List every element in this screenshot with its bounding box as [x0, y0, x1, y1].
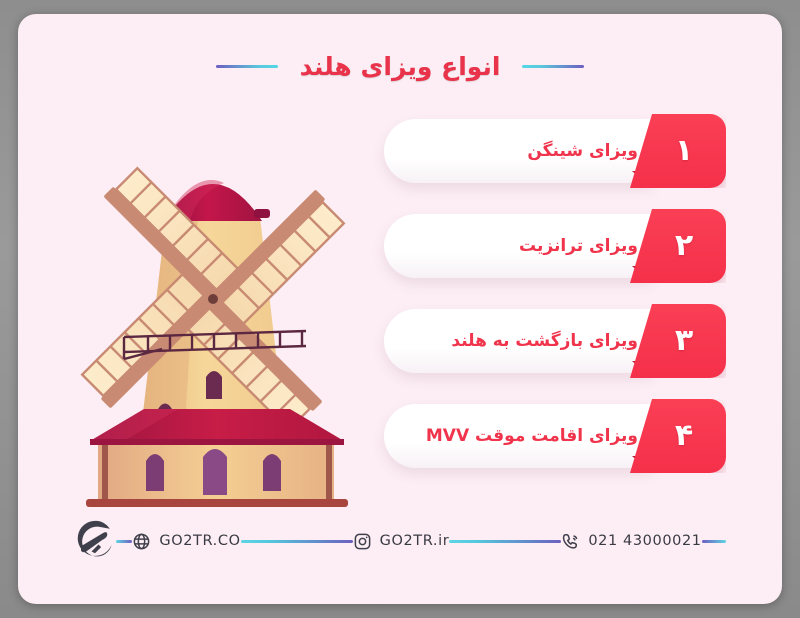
- connector-line-icon: [449, 540, 561, 543]
- list-item[interactable]: ویزای ترانزیت ۲: [384, 209, 764, 283]
- globe-icon: [132, 532, 151, 551]
- list-item-pill[interactable]: ویزای بازگشت به هلند: [384, 309, 652, 373]
- contact-instagram[interactable]: GO2TR.ir: [353, 532, 450, 551]
- list-item-number: ۱: [675, 136, 693, 166]
- list-item-label: ویزای شینگن: [527, 119, 638, 183]
- contact-website-text: GO2TR.CO: [159, 533, 240, 549]
- contact-instagram-text: GO2TR.ir: [380, 533, 450, 549]
- header: انواع ویزای هلند: [18, 52, 782, 81]
- list-item[interactable]: ویزای شینگن ۱: [384, 114, 764, 188]
- footer: GO2TR.CO GO2TR.ir: [18, 520, 782, 562]
- title-rule-left-icon: [522, 65, 584, 68]
- page-title: انواع ویزای هلند: [300, 52, 501, 81]
- visa-type-list: ویزای شینگن ۱ ویزای ترانزیت ۲ ویزای بازگ: [384, 114, 764, 494]
- list-item-label: ویزای اقامت موقت MVV: [426, 404, 638, 468]
- list-item-pill[interactable]: ویزای شینگن: [384, 119, 652, 183]
- list-item[interactable]: ویزای بازگشت به هلند ۳: [384, 304, 764, 378]
- list-item[interactable]: ویزای اقامت موقت MVV ۴: [384, 399, 764, 473]
- connector-line-icon: [702, 540, 726, 543]
- list-item-number: ۴: [675, 421, 693, 451]
- contact-phone-text: 021 43000021: [588, 533, 701, 549]
- screenshot-root: انواع ویزای هلند: [0, 0, 800, 618]
- list-item-pill[interactable]: ویزای اقامت موقت MVV: [384, 404, 652, 468]
- connector-line-icon: [241, 540, 353, 543]
- list-item-label: ویزای ترانزیت: [519, 214, 638, 278]
- list-item-label: ویزای بازگشت به هلند: [451, 309, 638, 373]
- contact-website[interactable]: GO2TR.CO: [132, 532, 240, 551]
- connector-line-icon: [116, 540, 132, 543]
- list-item-pill[interactable]: ویزای ترانزیت: [384, 214, 652, 278]
- brand-logo-icon: [74, 520, 116, 562]
- phone-icon: [561, 532, 580, 551]
- list-item-number: ۲: [675, 231, 693, 261]
- instagram-icon: [353, 532, 372, 551]
- windmill-illustration: [58, 109, 368, 509]
- contact-phone[interactable]: 021 43000021: [561, 532, 701, 551]
- title-rule-right-icon: [216, 65, 278, 68]
- list-item-number: ۳: [675, 326, 693, 356]
- infographic-card: انواع ویزای هلند: [18, 14, 782, 604]
